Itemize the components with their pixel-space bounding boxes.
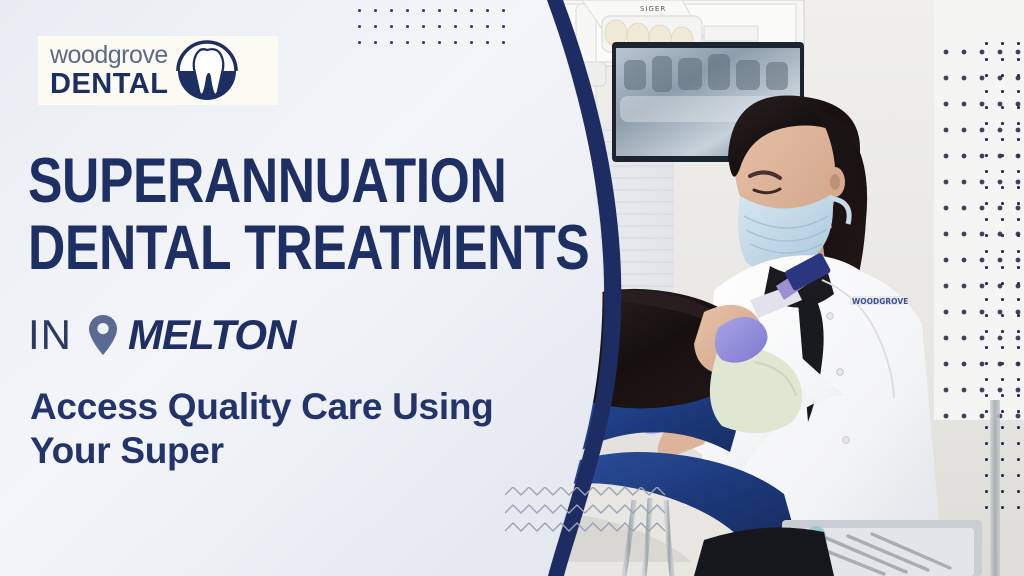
decor-dot <box>985 42 988 45</box>
decor-dot <box>985 186 988 189</box>
decor-dot <box>1017 378 1020 381</box>
headline-line-2: DENTAL TREATMENTS <box>28 219 520 279</box>
decor-dot <box>1017 394 1020 397</box>
decor-dot <box>985 58 988 61</box>
decor-dot <box>1001 298 1004 301</box>
decor-dot <box>1017 410 1020 413</box>
decor-dot <box>985 282 988 285</box>
decor-dot <box>985 474 988 477</box>
decor-dot <box>374 25 377 28</box>
decor-dot <box>358 41 361 44</box>
headline-line-1: SUPERANNUATION <box>28 152 520 212</box>
decor-dot <box>985 74 988 77</box>
decor-dot <box>1001 410 1004 413</box>
decor-dot <box>1017 90 1020 93</box>
svg-text:WOODGROVE: WOODGROVE <box>852 297 908 306</box>
decor-dot <box>1001 186 1004 189</box>
decor-dot <box>470 41 473 44</box>
decor-dot <box>422 41 425 44</box>
decor-dot <box>1001 378 1004 381</box>
decor-dot <box>390 9 393 12</box>
decor-dot <box>1001 362 1004 365</box>
decor-dot <box>502 9 505 12</box>
decor-dot <box>454 9 457 12</box>
decor-dot <box>1001 234 1004 237</box>
decor-dot <box>1001 490 1004 493</box>
decor-dot <box>1001 346 1004 349</box>
logo-word-top: woodgrove <box>50 43 168 68</box>
decor-dot <box>374 41 377 44</box>
decor-dot <box>1017 202 1020 205</box>
decor-dot <box>985 442 988 445</box>
decor-dot <box>1001 138 1004 141</box>
decor-dot <box>1001 106 1004 109</box>
logo-text: woodgrove DENTAL <box>38 43 168 99</box>
decor-dot <box>1017 490 1020 493</box>
decor-dot <box>985 314 988 317</box>
decor-dot <box>985 138 988 141</box>
decor-dot <box>985 122 988 125</box>
decor-dot <box>1017 218 1020 221</box>
decor-dot <box>985 378 988 381</box>
city-name: MELTON <box>128 311 295 359</box>
decor-dot <box>438 41 441 44</box>
decor-dot <box>985 330 988 333</box>
decor-dot <box>1001 314 1004 317</box>
decor-dot <box>1001 506 1004 509</box>
decor-dot <box>985 394 988 397</box>
decor-dot <box>470 25 473 28</box>
decor-dot <box>985 218 988 221</box>
dot-grid-right <box>985 42 1024 576</box>
decor-dot <box>1001 394 1004 397</box>
decor-dot <box>454 41 457 44</box>
logo[interactable]: woodgrove DENTAL <box>38 36 278 105</box>
decor-dot <box>1017 42 1020 45</box>
decor-dot <box>985 410 988 413</box>
decor-dot <box>1001 58 1004 61</box>
decor-dot <box>1001 218 1004 221</box>
decor-dot <box>358 25 361 28</box>
decor-dot <box>1001 458 1004 461</box>
decor-dot <box>1001 474 1004 477</box>
decor-dot <box>486 25 489 28</box>
decor-dot <box>1001 202 1004 205</box>
page-title: SUPERANNUATION DENTAL TREATMENTS <box>28 152 628 279</box>
decor-dot <box>985 458 988 461</box>
decor-dot <box>1001 442 1004 445</box>
decor-dot <box>1001 42 1004 45</box>
decor-dot <box>985 362 988 365</box>
decor-dot <box>1001 122 1004 125</box>
decor-dot <box>985 170 988 173</box>
decor-dot <box>1017 138 1020 141</box>
decor-dot <box>1001 90 1004 93</box>
decor-dot <box>422 25 425 28</box>
decor-dot <box>1017 122 1020 125</box>
decor-dot <box>502 25 505 28</box>
decor-dot <box>1017 426 1020 429</box>
decor-dot <box>1017 330 1020 333</box>
decor-dot <box>1001 170 1004 173</box>
decor-dot <box>406 41 409 44</box>
decor-dot <box>985 506 988 509</box>
decor-dot <box>1017 58 1020 61</box>
decor-dot <box>985 298 988 301</box>
banner-canvas: SIGER <box>0 0 1024 576</box>
decor-dot <box>454 25 457 28</box>
decor-dot <box>1001 266 1004 269</box>
decor-dot <box>1017 346 1020 349</box>
decor-dot <box>1017 362 1020 365</box>
subtitle-line-2: Your Super <box>30 429 610 473</box>
decor-dot <box>1001 154 1004 157</box>
decor-dot <box>422 9 425 12</box>
zigzag-wave-decoration <box>505 487 670 545</box>
decor-dot <box>502 41 505 44</box>
subtitle-line-1: Access Quality Care Using <box>30 385 610 429</box>
decor-dot <box>1017 106 1020 109</box>
decor-dot <box>985 202 988 205</box>
decor-dot <box>1001 74 1004 77</box>
decor-dot <box>1017 442 1020 445</box>
in-label: IN <box>28 311 72 359</box>
subtitle: Access Quality Care Using Your Super <box>30 385 610 472</box>
logo-word-bottom: DENTAL <box>50 70 168 99</box>
decor-dot <box>985 346 988 349</box>
location-row: IN MELTON <box>28 311 295 359</box>
decor-dot <box>1017 186 1020 189</box>
decor-dot <box>486 9 489 12</box>
decor-dot <box>1001 282 1004 285</box>
decor-dot <box>1017 250 1020 253</box>
decor-dot <box>985 234 988 237</box>
decor-dot <box>985 266 988 269</box>
decor-dot <box>985 426 988 429</box>
decor-dot <box>1017 474 1020 477</box>
decor-dot <box>1001 426 1004 429</box>
decor-dot <box>358 9 361 12</box>
decor-dot <box>438 25 441 28</box>
decor-dot <box>985 90 988 93</box>
decor-dot <box>1017 170 1020 173</box>
dot-grid-top <box>358 9 510 43</box>
decor-dot <box>985 250 988 253</box>
decor-dot <box>390 25 393 28</box>
decor-dot <box>1017 314 1020 317</box>
decor-dot <box>1017 234 1020 237</box>
decor-dot <box>406 25 409 28</box>
decor-dot <box>1001 250 1004 253</box>
decor-dot <box>1017 506 1020 509</box>
decor-dot <box>1001 330 1004 333</box>
decor-dot <box>1017 458 1020 461</box>
decor-dot <box>1017 266 1020 269</box>
decor-dot <box>374 9 377 12</box>
decor-dot <box>390 41 393 44</box>
location-pin-icon <box>88 314 118 356</box>
decor-dot <box>486 41 489 44</box>
tooth-icon <box>174 40 240 102</box>
decor-dot <box>985 106 988 109</box>
decor-dot <box>438 9 441 12</box>
decor-dot <box>1017 298 1020 301</box>
decor-dot <box>1017 74 1020 77</box>
decor-dot <box>406 9 409 12</box>
decor-dot <box>985 154 988 157</box>
decor-dot <box>985 490 988 493</box>
decor-dot <box>470 9 473 12</box>
decor-dot <box>1017 154 1020 157</box>
decor-dot <box>1017 282 1020 285</box>
